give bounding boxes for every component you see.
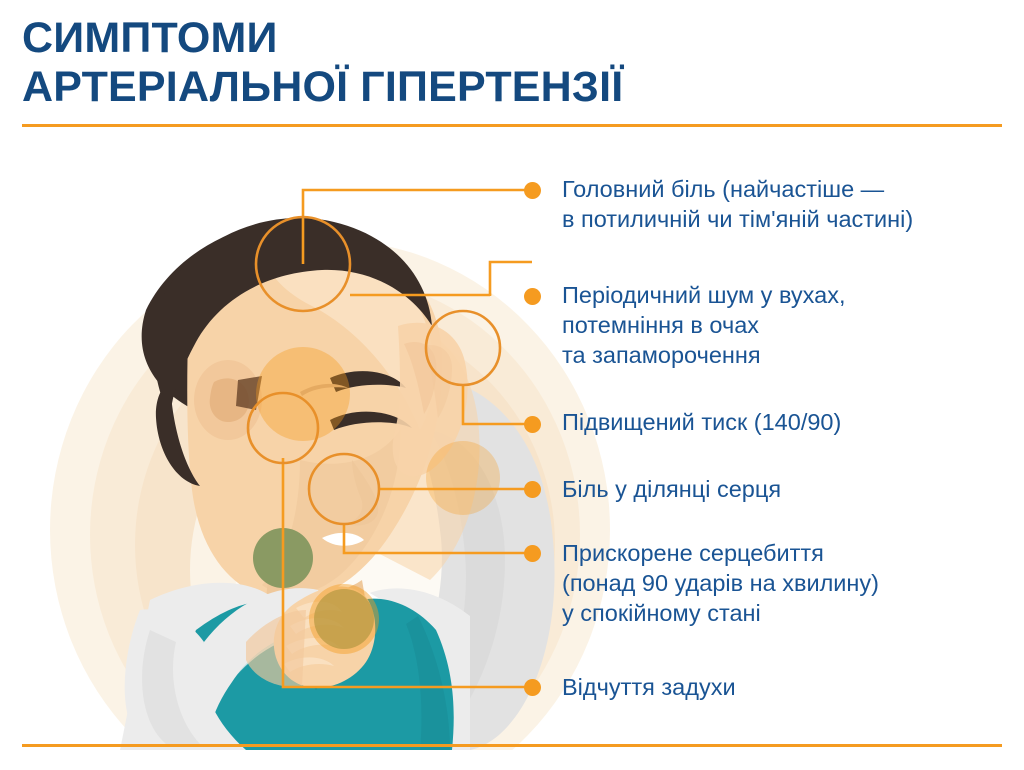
symptom-label-ear-noise: Періодичний шум у вухах, потемніння в оч… [562, 280, 846, 370]
symptom-label-rapid-heartbeat: Прискорене серцебиття (понад 90 ударів н… [562, 538, 879, 628]
symptom-label-list: Головний біль (найчастіше — в потиличній… [0, 0, 1024, 770]
infographic-poster: СИМПТОМИ АРТЕРІАЛЬНОЇ ГІПЕРТЕНЗІЇ [0, 0, 1024, 770]
symptom-label-shortness-of-breath: Відчуття задухи [562, 672, 736, 702]
symptom-label-high-pressure: Підвищений тиск (140/90) [562, 407, 841, 437]
symptom-label-heart-pain: Біль у ділянці серця [562, 474, 781, 504]
symptom-label-headache: Головний біль (найчастіше — в потиличній… [562, 174, 913, 234]
footer-divider-rule [22, 744, 1002, 747]
